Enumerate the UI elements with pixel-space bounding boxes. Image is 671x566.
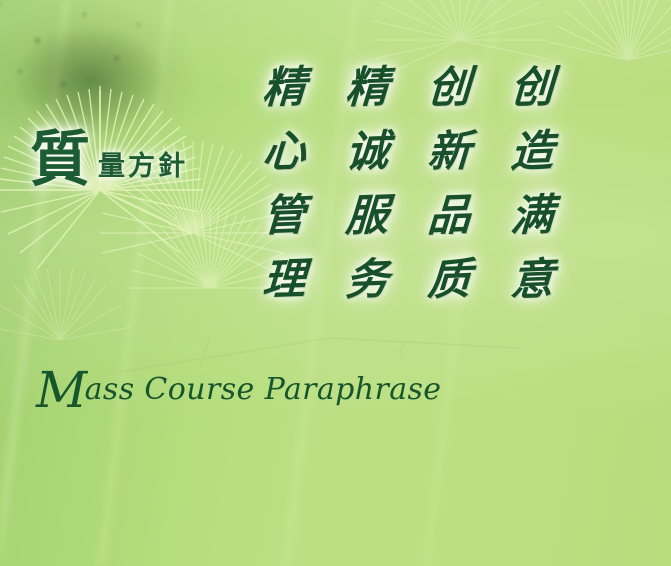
- slogan-glyph: 满: [489, 179, 575, 246]
- slogan-glyph: 创: [406, 51, 492, 118]
- slogan-glyph: 品: [406, 179, 492, 246]
- slogan-glyph: 理: [241, 243, 327, 310]
- english-tagline: Mass Course Paraphrase: [36, 372, 441, 407]
- english-tagline-rest: ass Course Paraphrase: [85, 372, 442, 407]
- slogan-glyph: 心: [241, 115, 327, 182]
- slogan-glyph: 管: [241, 179, 327, 246]
- poster-canvas: 0%" stop-color="#e9f4d4"/> 18%" stop-col…: [0, 0, 671, 566]
- title-remaining-characters: 量方針: [98, 144, 188, 189]
- poster-title: 質 量方針: [30, 132, 188, 189]
- slogan-glyph: 精: [241, 51, 327, 118]
- english-tagline-initial: M: [36, 361, 88, 419]
- slogan-character-grid: 精 精 创 创 心 诚 新 造 管 服 品 满 理 务 质 意: [243, 52, 573, 308]
- slogan-glyph: 创: [489, 51, 575, 118]
- slogan-glyph: 造: [489, 115, 575, 182]
- slogan-glyph: 务: [324, 243, 410, 310]
- title-lead-character: 質: [30, 132, 90, 189]
- slogan-glyph: 诚: [324, 115, 410, 182]
- slogan-glyph: 精: [324, 51, 410, 118]
- slogan-glyph: 新: [406, 115, 492, 182]
- saluting-guard-figure: 0%" stop-color="#ffffff" stop-opacity="1…: [470, 300, 671, 566]
- slogan-glyph: 服: [324, 179, 410, 246]
